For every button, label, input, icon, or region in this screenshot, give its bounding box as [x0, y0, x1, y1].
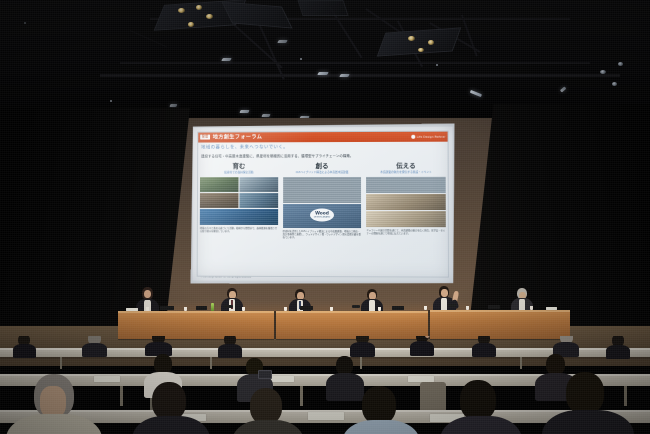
- lighting-panel: [377, 27, 462, 56]
- company-logo: Life Design Partner: [412, 134, 446, 138]
- slide-column-tsutaeru: 伝える 木造建築の魅力を発信する施設・イベント ギャラリーや展示空間を通じて、木…: [366, 163, 446, 273]
- photo: [200, 193, 238, 208]
- handout: [308, 412, 344, 420]
- photo: [239, 177, 277, 192]
- bar-light: [221, 58, 232, 61]
- auditorium-scene: 登壇 地方創生フォーラム Life Design Partner 地域の暮らしを…: [0, 0, 650, 434]
- column-caption: 県産材を活用したCLTハイブリッド構法による中高層建築。地域の工務店・設計事務所…: [283, 230, 362, 239]
- indicator-light: [110, 100, 112, 102]
- handout: [94, 376, 120, 382]
- spotlight: [418, 48, 424, 52]
- spotlight: [618, 62, 623, 66]
- indicator-light: [300, 58, 302, 60]
- photo-timber: [283, 177, 362, 203]
- slide-subtitle: 地域の暮らしを、未来へつないでいく。: [201, 144, 288, 150]
- column-heading: 伝える: [396, 163, 415, 170]
- audience-area: [0, 336, 650, 434]
- paper-cup: [530, 306, 533, 310]
- photo-interior: [366, 194, 445, 210]
- slide-header-band: 登壇 地方創生フォーラム Life Design Partner: [197, 131, 448, 143]
- bar-light: [470, 90, 482, 97]
- logo-mark-icon: [412, 134, 416, 138]
- spotlight: [612, 82, 617, 86]
- bar-light: [170, 104, 178, 107]
- panel-table-center: [276, 311, 428, 339]
- indicator-light: [24, 22, 26, 24]
- slide-lead-text: 建設する住宅・中高層木造建築に、県産材を積極的に活用する、循環型サプライチェーン…: [201, 154, 445, 159]
- paper-cup: [378, 307, 381, 311]
- microphone: [224, 305, 233, 308]
- slide-tag: 登壇: [200, 135, 210, 139]
- nameplate: [160, 306, 174, 310]
- spotlight: [196, 5, 202, 10]
- award-badge-sub: DESIGN AWARD: [314, 216, 330, 218]
- indicator-light: [436, 64, 438, 66]
- slide-column-ikumu: 育む 県産材での森林保全活動 地域の方々と進める森づくり活動。植林から間伐まで、…: [200, 163, 278, 272]
- column-heading: 育む: [232, 163, 245, 169]
- smartphone-camera: [258, 370, 272, 379]
- paper-cup: [242, 307, 245, 311]
- paper-cup: [184, 307, 187, 311]
- column-caption: 地域の方々と進める森づくり活動。植林から間伐まで、森林資源を循環させる取り組みを…: [200, 227, 278, 233]
- chair: [420, 382, 446, 412]
- spotlight: [178, 8, 185, 13]
- nameplate: [300, 306, 313, 310]
- logo-text: Life Design Partner: [417, 134, 446, 138]
- bar-light: [277, 40, 288, 43]
- nameplate: [392, 306, 404, 310]
- bar-light: [239, 110, 249, 113]
- spotlight: [188, 22, 194, 27]
- award-badge: Wood DESIGN AWARD: [310, 209, 334, 222]
- document: [126, 308, 138, 311]
- photo: [200, 177, 238, 192]
- column-caption: ギャラリーや展示空間を通じて、木造建築の魅力を広く発信。見学会・セミナーの開催を…: [366, 229, 445, 235]
- slide-title: 地方創生フォーラム: [213, 133, 263, 140]
- spotlight: [408, 36, 415, 41]
- microphone: [448, 304, 456, 307]
- paper-cup: [284, 307, 287, 311]
- photo-interior: [366, 177, 445, 193]
- spotlight: [206, 14, 213, 19]
- column-subheading: 木造建築の魅力を発信する施設・イベント: [380, 171, 431, 174]
- projection-screen: 登壇 地方創生フォーラム Life Design Partner 地域の暮らしを…: [191, 124, 455, 285]
- water-bottle: [211, 303, 214, 311]
- presentation-slide: 登壇 地方創生フォーラム Life Design Partner 地域の暮らしを…: [193, 127, 453, 282]
- lighting-panel: [297, 0, 348, 16]
- photo-group-banner: [200, 209, 278, 225]
- spotlight: [428, 40, 434, 45]
- panel-table-left: [118, 311, 274, 339]
- panel-table-right: [430, 310, 570, 339]
- slide-columns: 育む 県産材での森林保全活動 地域の方々と進める森づくり活動。植林から間伐まで、…: [200, 163, 446, 273]
- paper-cup: [146, 307, 149, 311]
- bar-light: [317, 72, 329, 75]
- document: [546, 307, 557, 310]
- bar-light: [261, 114, 270, 117]
- nameplate: [488, 305, 500, 309]
- photo-building: Wood DESIGN AWARD: [283, 204, 362, 228]
- bar-light: [339, 74, 350, 77]
- photo-interior: [366, 211, 445, 227]
- column-subheading: CLTハイブリッド構法による中高層木造建築: [296, 171, 349, 174]
- nameplate: [196, 306, 207, 310]
- paper-cup: [466, 306, 469, 310]
- microphone: [352, 305, 360, 308]
- bar-light: [560, 86, 566, 92]
- slide-column-tsukuru: 創る CLTハイブリッド構法による中高層木造建築 Wood DESIGN AWA…: [283, 163, 362, 272]
- paper-cup: [424, 306, 427, 310]
- column-subheading: 県産材での森林保全活動: [224, 171, 253, 174]
- column-heading: 創る: [316, 163, 329, 170]
- photo: [239, 193, 277, 208]
- slide-footer: © Life Design Partner Co., Ltd. All Righ…: [201, 276, 252, 278]
- spotlight: [600, 70, 606, 74]
- photo-grid: [200, 177, 278, 208]
- paper-cup: [330, 307, 333, 311]
